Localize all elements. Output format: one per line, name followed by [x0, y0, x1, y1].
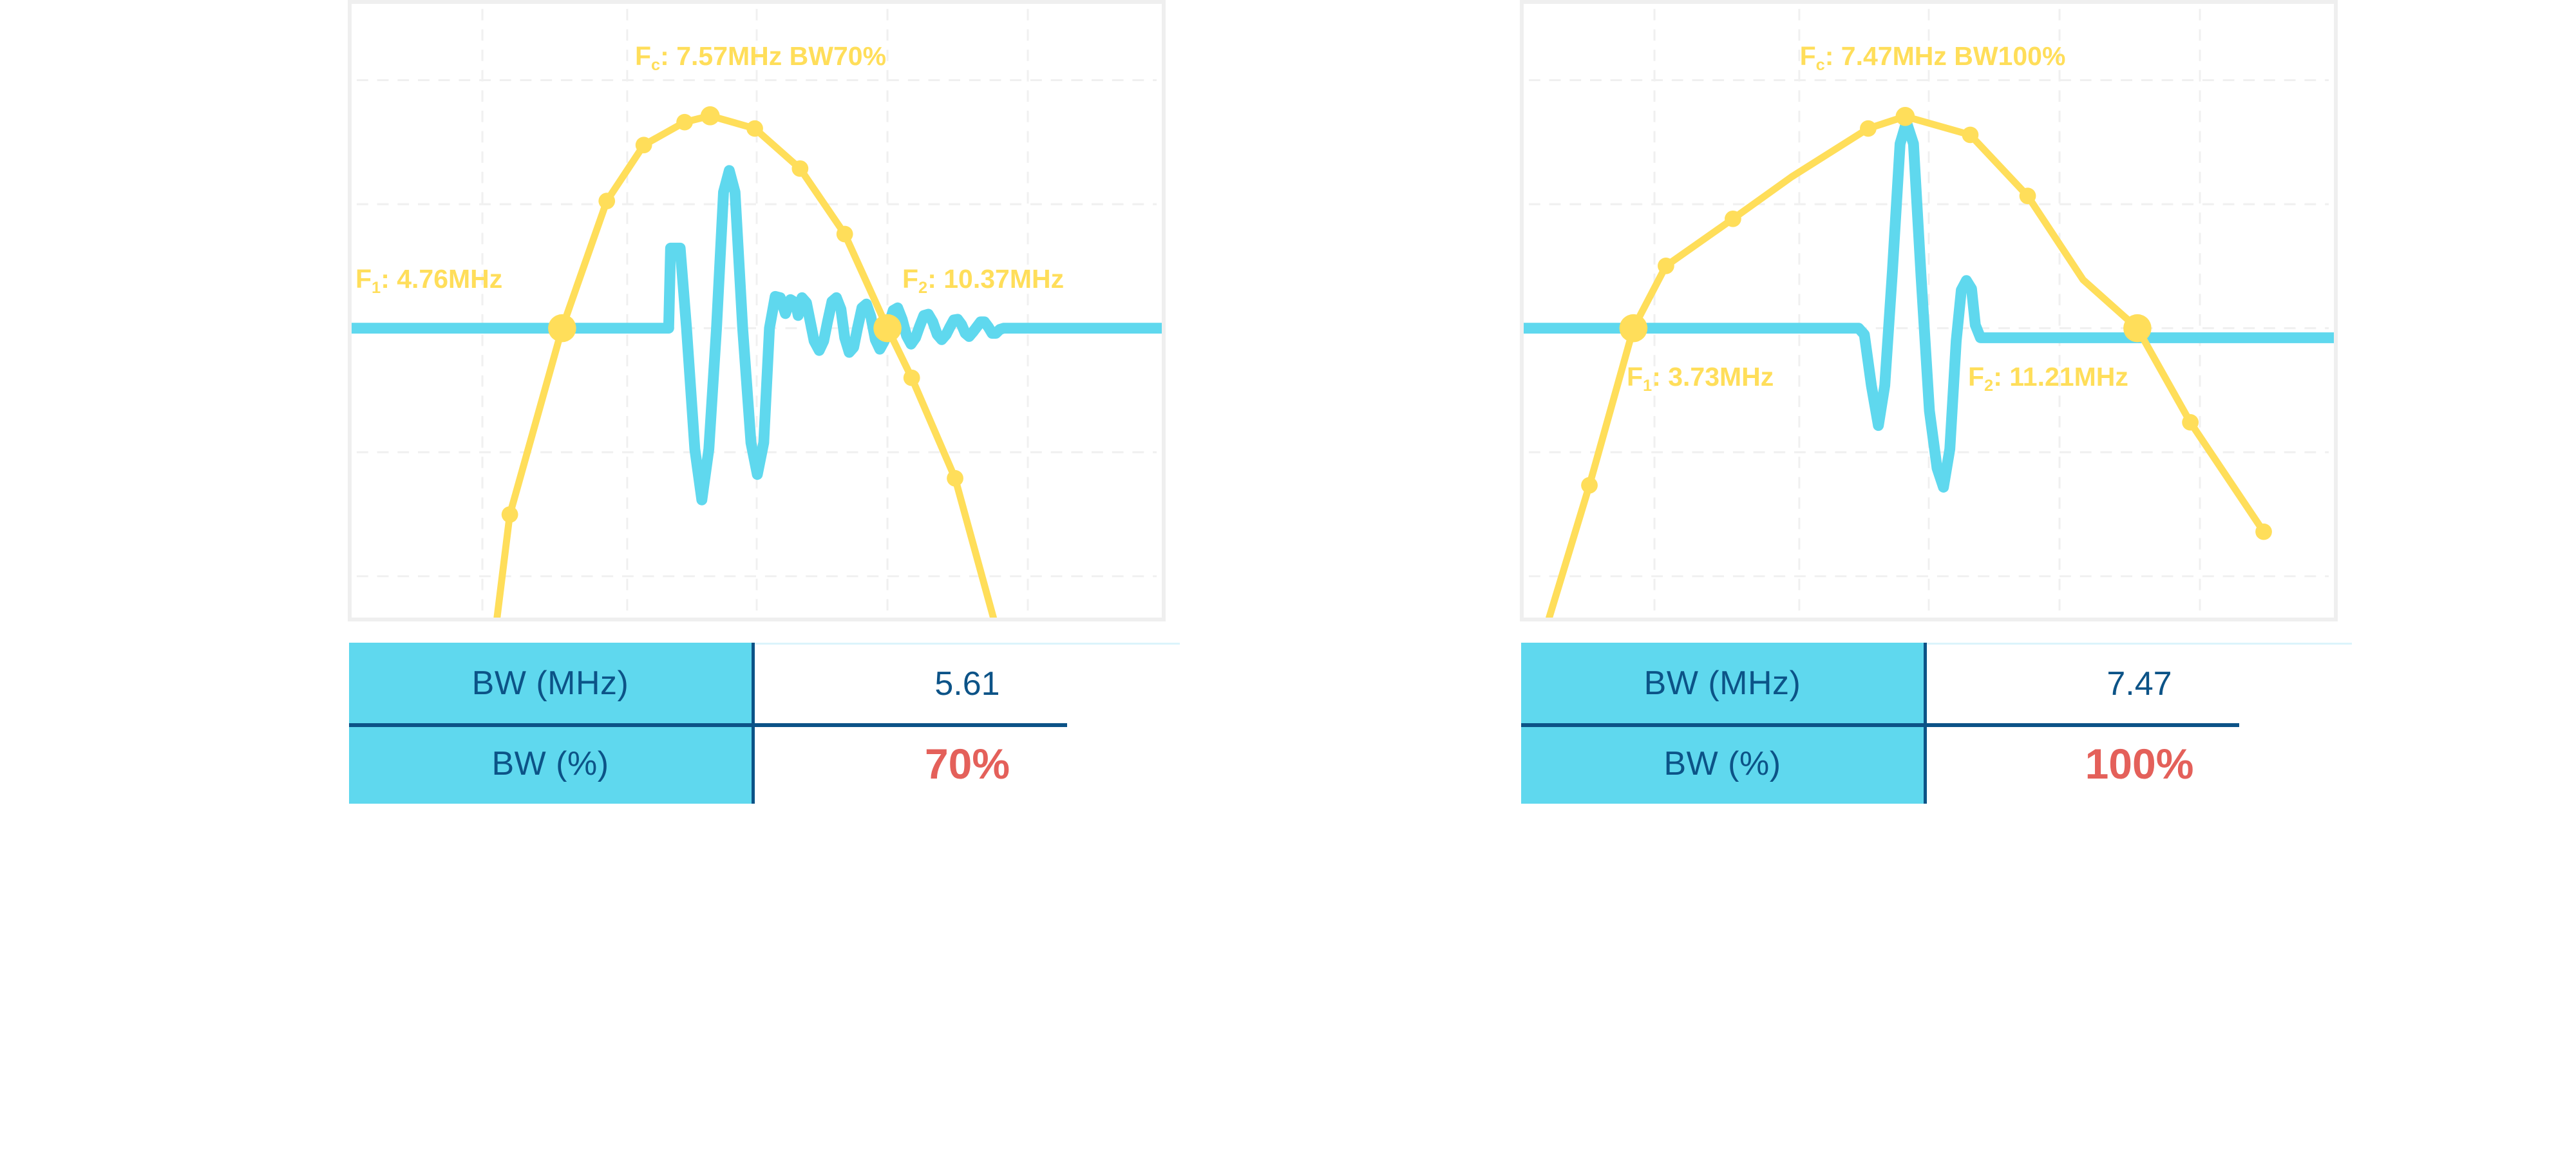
- chart-bw-70-svg: [352, 4, 1162, 618]
- annotation-f1-text-70: : 4.76MHz: [381, 264, 502, 294]
- panel-bw-70: Fc: 7.57MHz BW70% F1: 4.76MHz F2: 10.37M…: [348, 0, 1404, 804]
- annotation-f2-prefix-70: F: [902, 264, 918, 294]
- annotation-f2-subscript-70: 2: [918, 279, 927, 297]
- table-divider-100: [1521, 723, 2239, 727]
- annotation-f2-70: F2: 10.37MHz: [902, 264, 1064, 298]
- bw-pct-label-70: BW (%): [349, 723, 755, 804]
- bw-table-70: BW (MHz) 5.61 BW (%) 70%: [349, 643, 1180, 804]
- annotation-f1-subscript-100: 1: [1643, 377, 1652, 395]
- grid-lines: [357, 9, 1157, 612]
- grid-lines: [1529, 9, 2329, 612]
- table-row: BW (%) 100%: [1521, 723, 2352, 804]
- annotation-f1-text-100: : 3.73MHz: [1652, 362, 1774, 392]
- annotation-f2-prefix-100: F: [1968, 362, 1984, 392]
- annotation-center-subscript-100: c: [1816, 56, 1825, 74]
- annotation-center-text-70: : 7.57MHz BW70%: [660, 41, 886, 71]
- annotation-f1-subscript-70: 1: [372, 279, 381, 297]
- annotation-f1-prefix-70: F: [355, 264, 372, 294]
- chart-bw-100: Fc: 7.47MHz BW100% F1: 3.73MHz F2: 11.21…: [1520, 0, 2338, 621]
- annotation-f2-100: F2: 11.21MHz: [1968, 362, 2128, 395]
- annotation-center-prefix-100: F: [1800, 41, 1816, 71]
- table-row: BW (MHz) 5.61: [349, 643, 1180, 723]
- annotation-f2-text-70: : 10.37MHz: [927, 264, 1064, 294]
- bw-pct-value-70: 70%: [755, 723, 1180, 804]
- annotation-center-frequency-70: Fc: 7.57MHz BW70%: [558, 41, 963, 75]
- table-divider-70: [349, 723, 1067, 727]
- comparison-panels: Fc: 7.57MHz BW70% F1: 4.76MHz F2: 10.37M…: [0, 0, 2576, 1154]
- annotation-f2-subscript-100: 2: [1984, 377, 1993, 395]
- bw-table-100: BW (MHz) 7.47 BW (%) 100%: [1521, 643, 2352, 804]
- table-row: BW (MHz) 7.47: [1521, 643, 2352, 723]
- annotation-center-frequency-100: Fc: 7.47MHz BW100%: [1730, 41, 2136, 75]
- annotation-center-subscript-70: c: [651, 56, 660, 74]
- bw-mhz-label-100: BW (MHz): [1521, 643, 1927, 723]
- table-row: BW (%) 70%: [349, 723, 1180, 804]
- bw-pct-value-100: 100%: [1927, 723, 2352, 804]
- bw-pct-label-100: BW (%): [1521, 723, 1927, 804]
- annotation-f2-text-100: : 11.21MHz: [1993, 362, 2128, 392]
- annotation-f1-prefix-100: F: [1627, 362, 1643, 392]
- panel-bw-100: Fc: 7.47MHz BW100% F1: 3.73MHz F2: 11.21…: [1520, 0, 2576, 804]
- bw-mhz-value-100: 7.47: [1927, 643, 2352, 723]
- annotation-center-text-100: : 7.47MHz BW100%: [1825, 41, 2066, 71]
- annotation-f1-70: F1: 4.76MHz: [355, 264, 502, 298]
- annotation-f1-100: F1: 3.73MHz: [1627, 362, 1774, 395]
- annotation-center-prefix-70: F: [635, 41, 651, 71]
- chart-bw-100-svg: [1524, 4, 2334, 618]
- bw-mhz-value-70: 5.61: [755, 643, 1180, 723]
- bw-mhz-label-70: BW (MHz): [349, 643, 755, 723]
- chart-bw-70: Fc: 7.57MHz BW70% F1: 4.76MHz F2: 10.37M…: [348, 0, 1166, 621]
